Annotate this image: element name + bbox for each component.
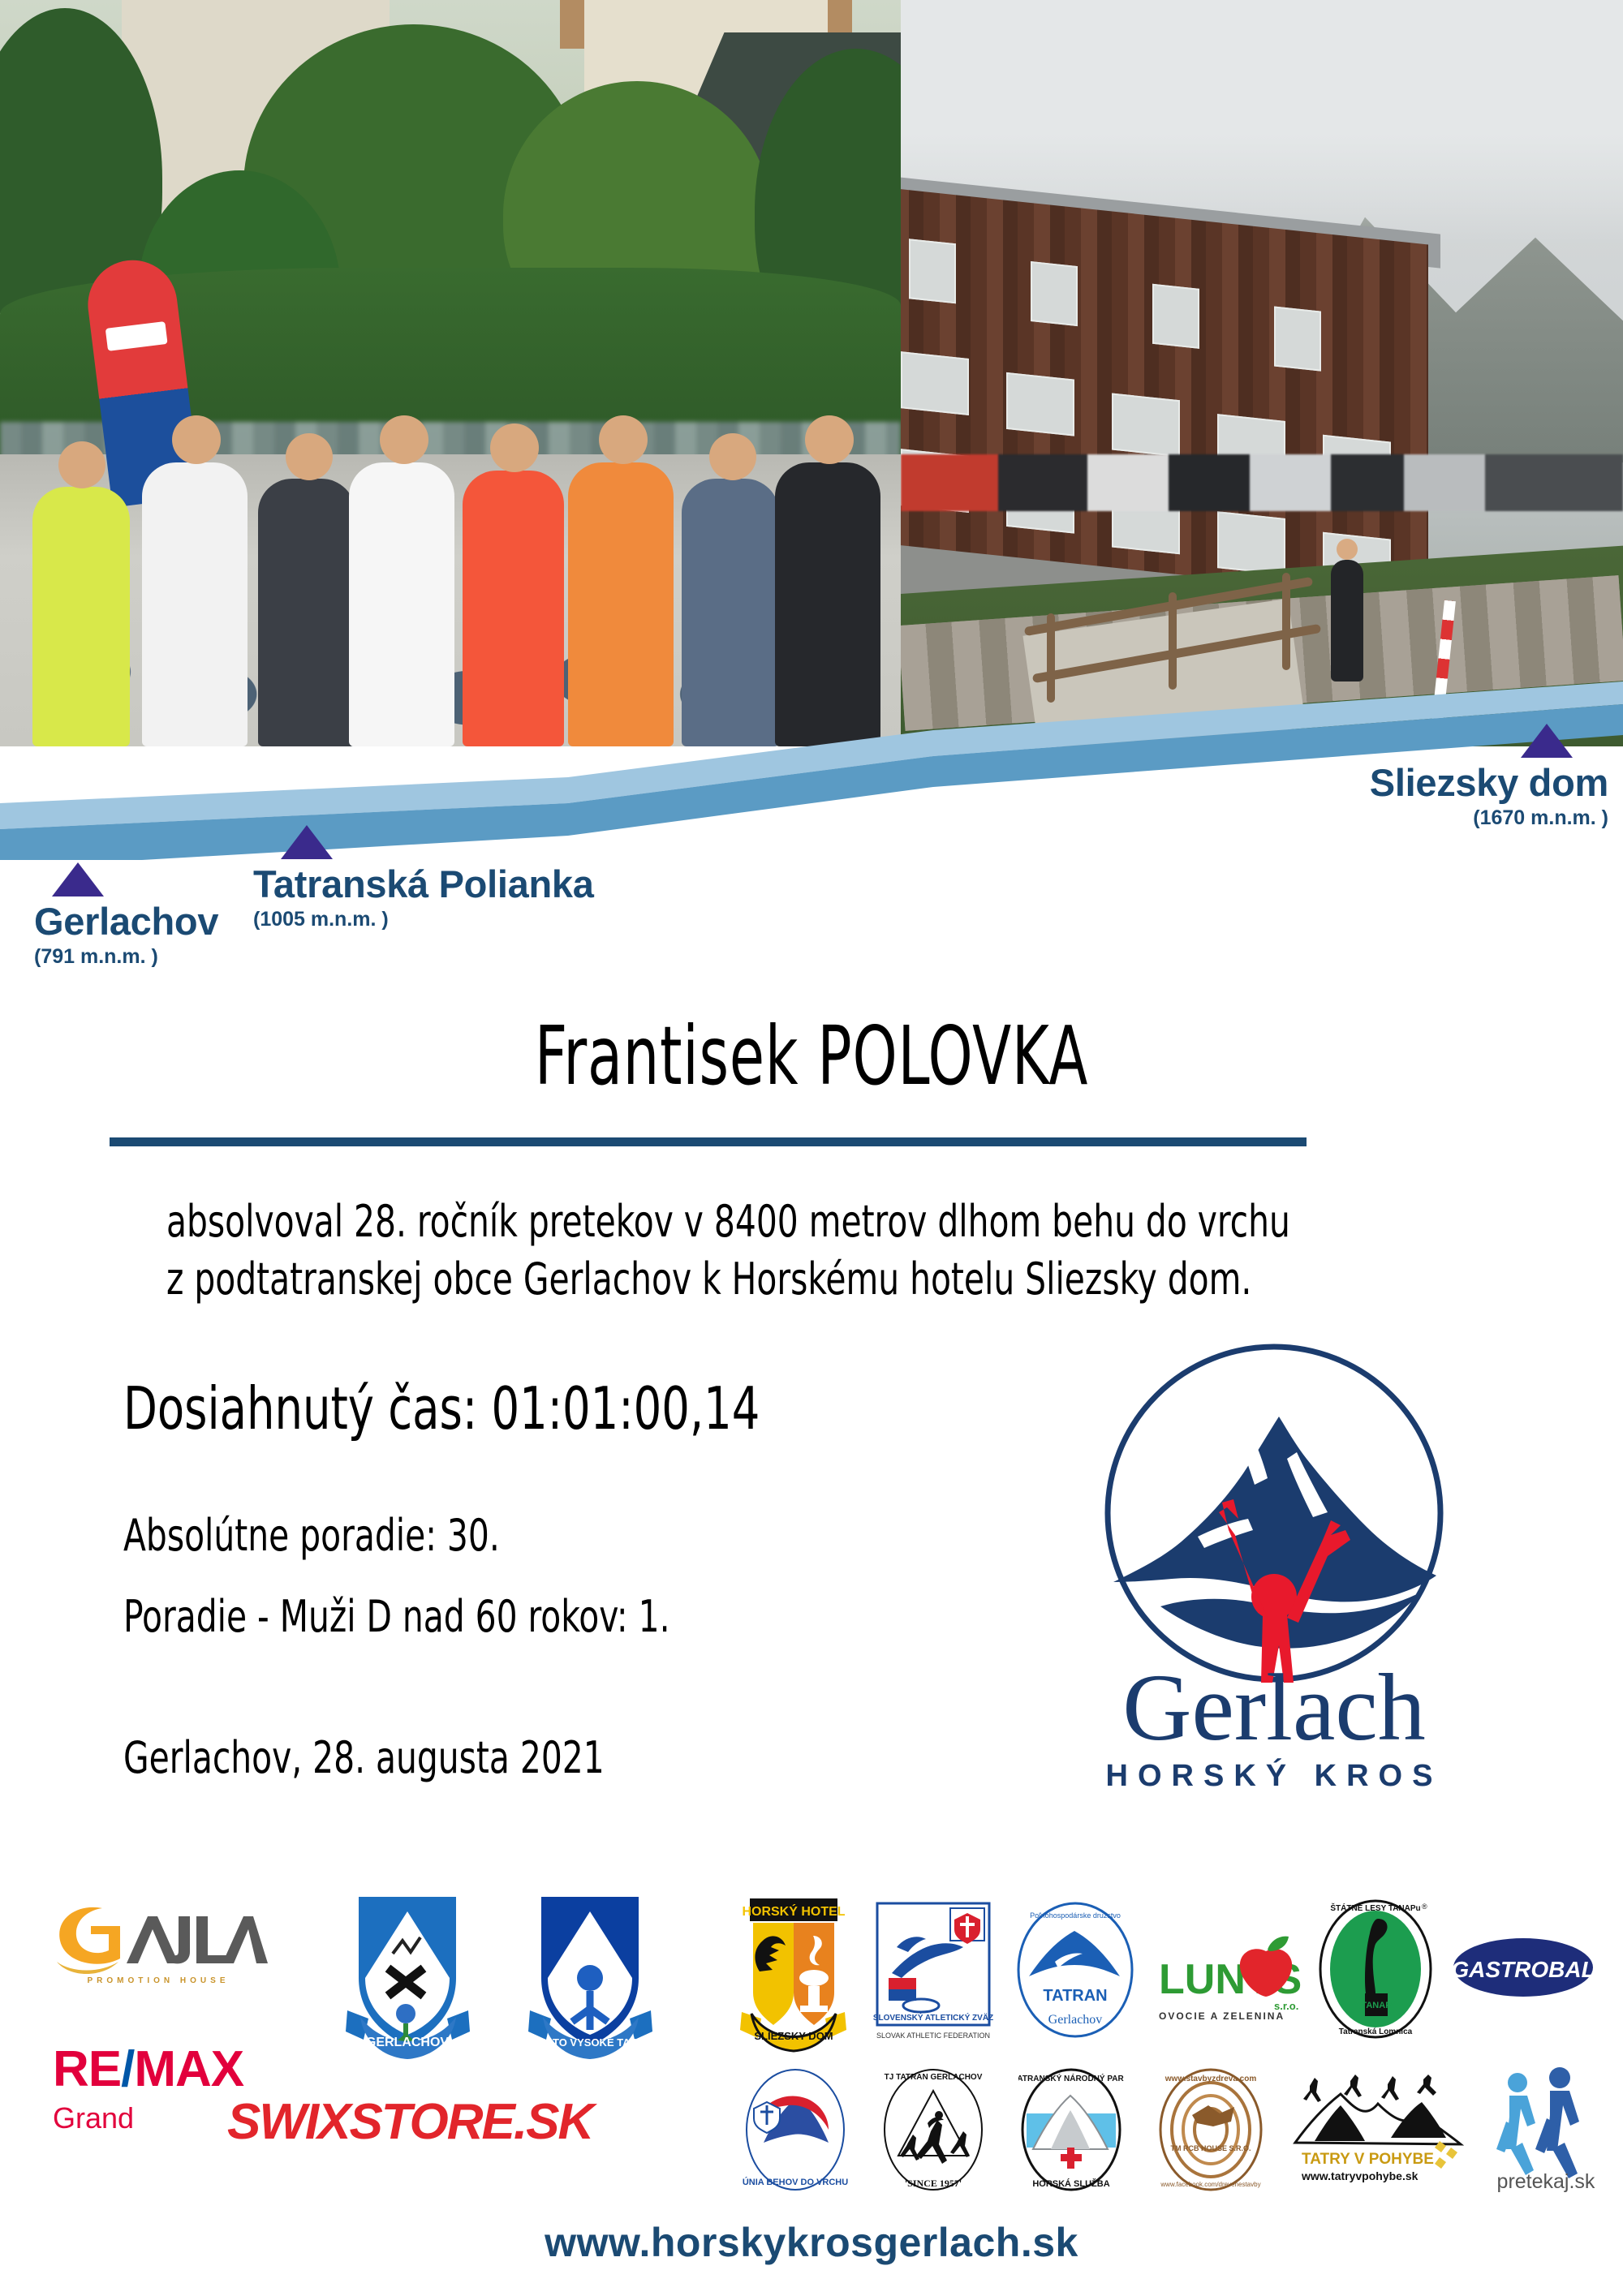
svg-text:www.tatryvpohybe.sk: www.tatryvpohybe.sk bbox=[1301, 2169, 1419, 2182]
unia-behov-icon: ÚNIA BEHOV DO VRCHU bbox=[743, 2065, 848, 2195]
svg-text:www.facebook.com/drevenestavby: www.facebook.com/drevenestavby bbox=[1160, 2181, 1260, 2188]
svg-text:TATRAN: TATRAN bbox=[1043, 1987, 1107, 2005]
svg-text:TANAP: TANAP bbox=[1361, 2001, 1391, 2010]
sliezsky-dom-crest-icon: HORSKÝ HOTEL SLIEZSKY DOM bbox=[738, 1890, 848, 2053]
svg-text:pretekaj.sk: pretekaj.sk bbox=[1497, 2170, 1595, 2193]
title-divider bbox=[110, 1137, 1307, 1146]
slovak-athletic-federation-icon: SLOVENSKÝ ATLETICKÝ ZVÄZ SLOVAK ATHLETIC… bbox=[872, 1898, 994, 2044]
marker-altitude: (791 m.n.m. ) bbox=[34, 947, 218, 967]
svg-text:®: ® bbox=[1422, 1903, 1427, 1911]
tanap-forest-icon: TANAP ŠTÁTNE LESY TANAPu Tatranská Lomni… bbox=[1315, 1894, 1436, 2044]
svg-text:GERLACHOV: GERLACHOV bbox=[366, 2036, 450, 2049]
tatran-gerlachov-icon: TATRAN Gerlachov Poľnohospodárske družst… bbox=[1014, 1898, 1136, 2044]
marker-altitude: (1005 m.n.m. ) bbox=[253, 909, 594, 930]
sponsor-horsky-hotel-sliezsky-dom: HORSKÝ HOTEL SLIEZSKY DOM bbox=[738, 1890, 848, 2053]
sponsor-tj-tatran-gerlachov: TJ TATRAN GERLACHOV 'SINCE 1957' bbox=[880, 2065, 986, 2195]
place-and-date: Gerlachov, 28. augusta 2021 bbox=[123, 1736, 859, 1780]
sliezsky-dom-photo bbox=[901, 0, 1623, 746]
svg-text:SLIEZSKY DOM: SLIEZSKY DOM bbox=[754, 2030, 833, 2042]
event-logo: Gerlach HORSKÝ KROS bbox=[1039, 1339, 1509, 1809]
sponsor-tatry-v-pohybe: TATRY V POHYBE www.tatryvpohybe.sk bbox=[1290, 2073, 1465, 2186]
sponsor-statne-lesy-tanapu: TANAP ŠTÁTNE LESY TANAPu Tatranská Lomni… bbox=[1315, 1894, 1436, 2044]
marker-triangle-icon bbox=[1521, 724, 1573, 758]
sponsor-gastrobal: GASTROBAL bbox=[1453, 1935, 1595, 2000]
race-description: absolvoval 28. ročník pretekov v 8400 me… bbox=[166, 1193, 1271, 1309]
race-description-line-1: absolvoval 28. ročník pretekov v 8400 me… bbox=[166, 1193, 1271, 1250]
sponsor-mesto-vysoke-tatry: MESTO VYSOKÉ TATRY bbox=[523, 1890, 657, 2065]
sponsor-logos: PROMOTION HOUSE RE/MAX Grand GERLACHOV bbox=[0, 1890, 1623, 2207]
marker-name: Tatranská Polianka bbox=[253, 865, 594, 903]
lunys-logo-icon: LUNYS s.r.o. OVOCIE A ZELENINA bbox=[1152, 1935, 1307, 2040]
svg-text:HORSKÝ HOTEL: HORSKÝ HOTEL bbox=[742, 1903, 845, 1919]
svg-text:SLOVENSKÝ ATLETICKÝ ZVÄZ: SLOVENSKÝ ATLETICKÝ ZVÄZ bbox=[873, 2012, 993, 2023]
sponsor-lunys: LUNYS s.r.o. OVOCIE A ZELENINA bbox=[1152, 1935, 1307, 2040]
absolute-rank: Absolútne poradie: 30. bbox=[123, 1514, 859, 1558]
vysoke-tatry-crest-icon: MESTO VYSOKÉ TATRY bbox=[523, 1890, 657, 2065]
sponsor-slovensky-atleticky-zvaz: SLOVENSKÝ ATLETICKÝ ZVÄZ SLOVAK ATHLETIC… bbox=[872, 1898, 994, 2044]
elevation-marker-tatranska-polianka: Tatranská Polianka (1005 m.n.m. ) bbox=[253, 825, 594, 930]
svg-text:'SINCE 1957': 'SINCE 1957' bbox=[905, 2178, 962, 2189]
marker-altitude: (1670 m.n.m. ) bbox=[1370, 808, 1608, 828]
stavbyzdreva-icon: www.stavbyzdreva.com TM RCB HOUSE S.R.O.… bbox=[1156, 2065, 1266, 2195]
sponsor-ajla-tagline: PROMOTION HOUSE bbox=[49, 1976, 268, 1985]
sponsor-pretekaj: pretekaj.sk bbox=[1485, 2065, 1607, 2195]
race-start-photo bbox=[0, 0, 901, 746]
sponsor-swixstore-wordmark: SWIXSTORE.SK bbox=[227, 2097, 584, 2148]
elevation-marker-gerlachov: Gerlachov (791 m.n.m. ) bbox=[34, 862, 218, 967]
svg-text:TM RCB HOUSE S.R.O.: TM RCB HOUSE S.R.O. bbox=[1170, 2144, 1251, 2152]
tatry-v-pohybe-icon: TATRY V POHYBE www.tatryvpohybe.sk bbox=[1290, 2073, 1465, 2186]
sponsor-obec-gerlachov: GERLACHOV bbox=[341, 1890, 475, 2065]
ajla-logo-icon bbox=[49, 1898, 268, 1976]
athlete-name: Frantisek POLOVKA bbox=[179, 1008, 1444, 1103]
logo-tagline: HORSKÝ KROS bbox=[1039, 1761, 1509, 1791]
gerlachov-crest-icon: GERLACHOV bbox=[341, 1890, 475, 2065]
marker-name: Sliezsky dom bbox=[1370, 763, 1608, 802]
svg-text:Gerlachov: Gerlachov bbox=[1048, 2013, 1103, 2027]
results-block: Dosiahnutý čas: 01:01:00,14 Absolútne po… bbox=[123, 1379, 859, 1780]
horska-sluzba-icon: TATRANSKÝ NÁRODNÝ PARK HORSKÁ SLUŽBA bbox=[1018, 2065, 1124, 2195]
marker-triangle-icon bbox=[52, 862, 104, 896]
svg-text:OVOCIE A ZELENINA: OVOCIE A ZELENINA bbox=[1159, 2010, 1285, 2022]
svg-text:TATRY V POHYBE: TATRY V POHYBE bbox=[1302, 2151, 1434, 2168]
sponsor-horska-sluzba: TATRANSKÝ NÁRODNÝ PARK HORSKÁ SLUŽBA bbox=[1018, 2065, 1124, 2195]
gerlach-mountain-emblem-icon bbox=[1039, 1339, 1509, 1688]
svg-text:TATRANSKÝ NÁRODNÝ PARK: TATRANSKÝ NÁRODNÝ PARK bbox=[1018, 2073, 1124, 2083]
race-description-line-2: z podtatranskej obce Gerlachov k Horském… bbox=[166, 1250, 1271, 1308]
finish-time: Dosiahnutý čas: 01:01:00,14 bbox=[123, 1379, 859, 1438]
tj-tatran-gerlachov-icon: TJ TATRAN GERLACHOV 'SINCE 1957' bbox=[880, 2065, 986, 2195]
elevation-marker-sliezsky-dom: Sliezsky dom (1670 m.n.m. ) bbox=[1370, 724, 1608, 828]
category-rank: Poradie - Muži D nad 60 rokov: 1. bbox=[123, 1595, 859, 1639]
svg-text:Poľnohospodárske družstvo: Poľnohospodárske družstvo bbox=[1030, 1911, 1121, 1920]
logo-wordmark: Gerlach bbox=[1039, 1660, 1509, 1756]
sponsor-unia-behov-do-vrchu: ÚNIA BEHOV DO VRCHU bbox=[743, 2065, 848, 2195]
svg-text:GASTROBAL: GASTROBAL bbox=[1453, 1957, 1595, 1982]
sponsor-ajla: PROMOTION HOUSE bbox=[49, 1898, 268, 1996]
website-url: www.horskykrosgerlach.sk bbox=[0, 2219, 1623, 2266]
sponsor-swixstore: SWIXSTORE.SK bbox=[227, 2097, 584, 2170]
sponsor-remax-wordmark: RE/MAX bbox=[53, 2044, 280, 2095]
marker-triangle-icon bbox=[281, 825, 333, 859]
svg-text:www.stavbyzdreva.com: www.stavbyzdreva.com bbox=[1165, 2075, 1257, 2083]
svg-text:HORSKÁ SLUŽBA: HORSKÁ SLUŽBA bbox=[1032, 2178, 1109, 2189]
sponsor-stavbyzdreva: www.stavbyzdreva.com TM RCB HOUSE S.R.O.… bbox=[1156, 2065, 1266, 2195]
svg-text:ÚNIA BEHOV DO VRCHU: ÚNIA BEHOV DO VRCHU bbox=[743, 2177, 848, 2187]
svg-text:Tatranská Lomnica: Tatranská Lomnica bbox=[1339, 2027, 1413, 2036]
pretekaj-runners-icon: pretekaj.sk bbox=[1485, 2065, 1607, 2195]
svg-text:SLOVAK ATHLETIC FEDERATION: SLOVAK ATHLETIC FEDERATION bbox=[876, 2032, 990, 2040]
sponsor-tatran-gerlachov: TATRAN Gerlachov Poľnohospodárske družst… bbox=[1014, 1898, 1136, 2044]
marker-name: Gerlachov bbox=[34, 902, 218, 940]
gastrobal-logo-icon: GASTROBAL bbox=[1453, 1935, 1595, 2000]
svg-text:ŠTÁTNE LESY TANAPu: ŠTÁTNE LESY TANAPu bbox=[1330, 1903, 1420, 1913]
svg-text:TJ TATRAN GERLACHOV: TJ TATRAN GERLACHOV bbox=[885, 2073, 983, 2082]
svg-text:MESTO VYSOKÉ TATRY: MESTO VYSOKÉ TATRY bbox=[530, 2036, 651, 2049]
